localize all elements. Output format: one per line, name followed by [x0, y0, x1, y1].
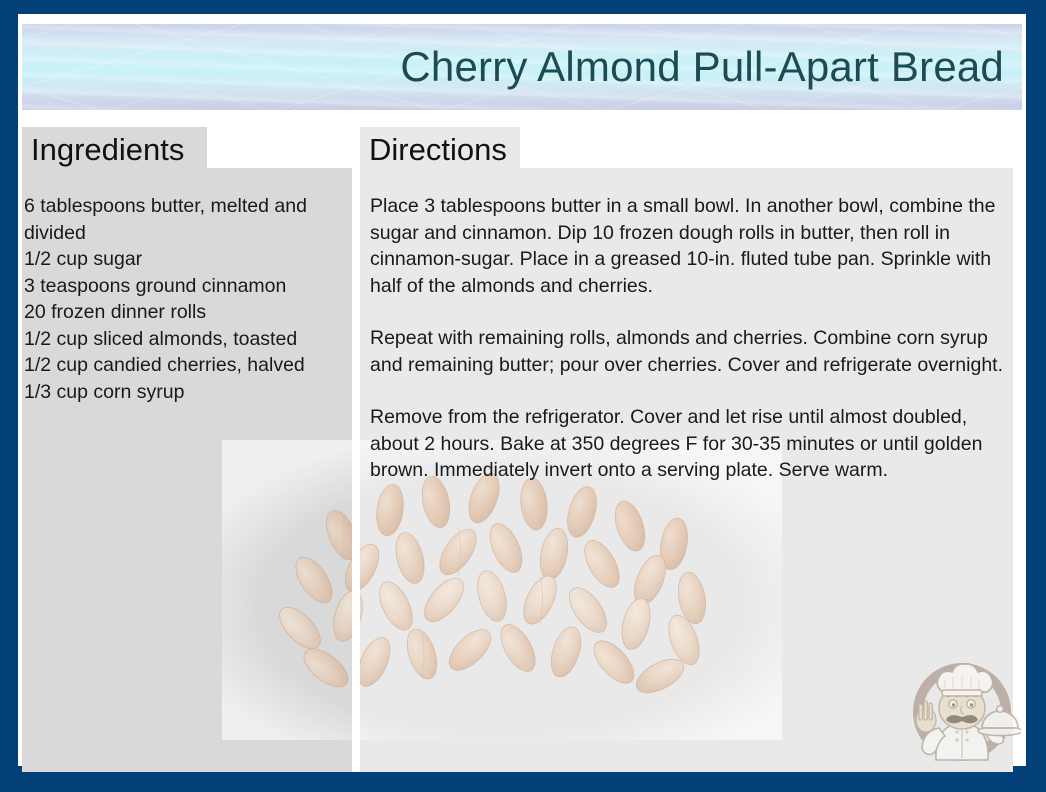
ingredient-item: 6 tablespoons butter, melted and divided	[24, 193, 346, 246]
ingredients-list: 6 tablespoons butter, melted and divided…	[24, 193, 346, 405]
title-banner: Cherry Almond Pull-Apart Bread	[22, 24, 1022, 110]
ingredient-item: 3 teaspoons ground cinnamon	[24, 273, 346, 300]
ingredient-item: 20 frozen dinner rolls	[24, 299, 346, 326]
ingredient-item: 1/3 cup corn syrup	[24, 379, 346, 406]
direction-paragraph: Remove from the refrigerator. Cover and …	[370, 404, 1018, 484]
section-header-ingredients: Ingredients	[22, 127, 207, 172]
ingredient-item: 1/2 cup sliced almonds, toasted	[24, 326, 346, 353]
section-header-directions: Directions	[360, 127, 520, 172]
ingredient-item: 1/2 cup sugar	[24, 246, 346, 273]
direction-paragraph: Repeat with remaining rolls, almonds and…	[370, 325, 1018, 378]
recipe-card: Cherry Almond Pull-Apart Bread	[0, 0, 1046, 792]
page-title: Cherry Almond Pull-Apart Bread	[400, 43, 1004, 91]
ingredient-item: 1/2 cup candied cherries, halved	[24, 352, 346, 379]
direction-paragraph: Place 3 tablespoons butter in a small bo…	[370, 193, 1018, 299]
directions-body: Place 3 tablespoons butter in a small bo…	[370, 193, 1018, 484]
panel-divider-gap	[352, 168, 360, 772]
